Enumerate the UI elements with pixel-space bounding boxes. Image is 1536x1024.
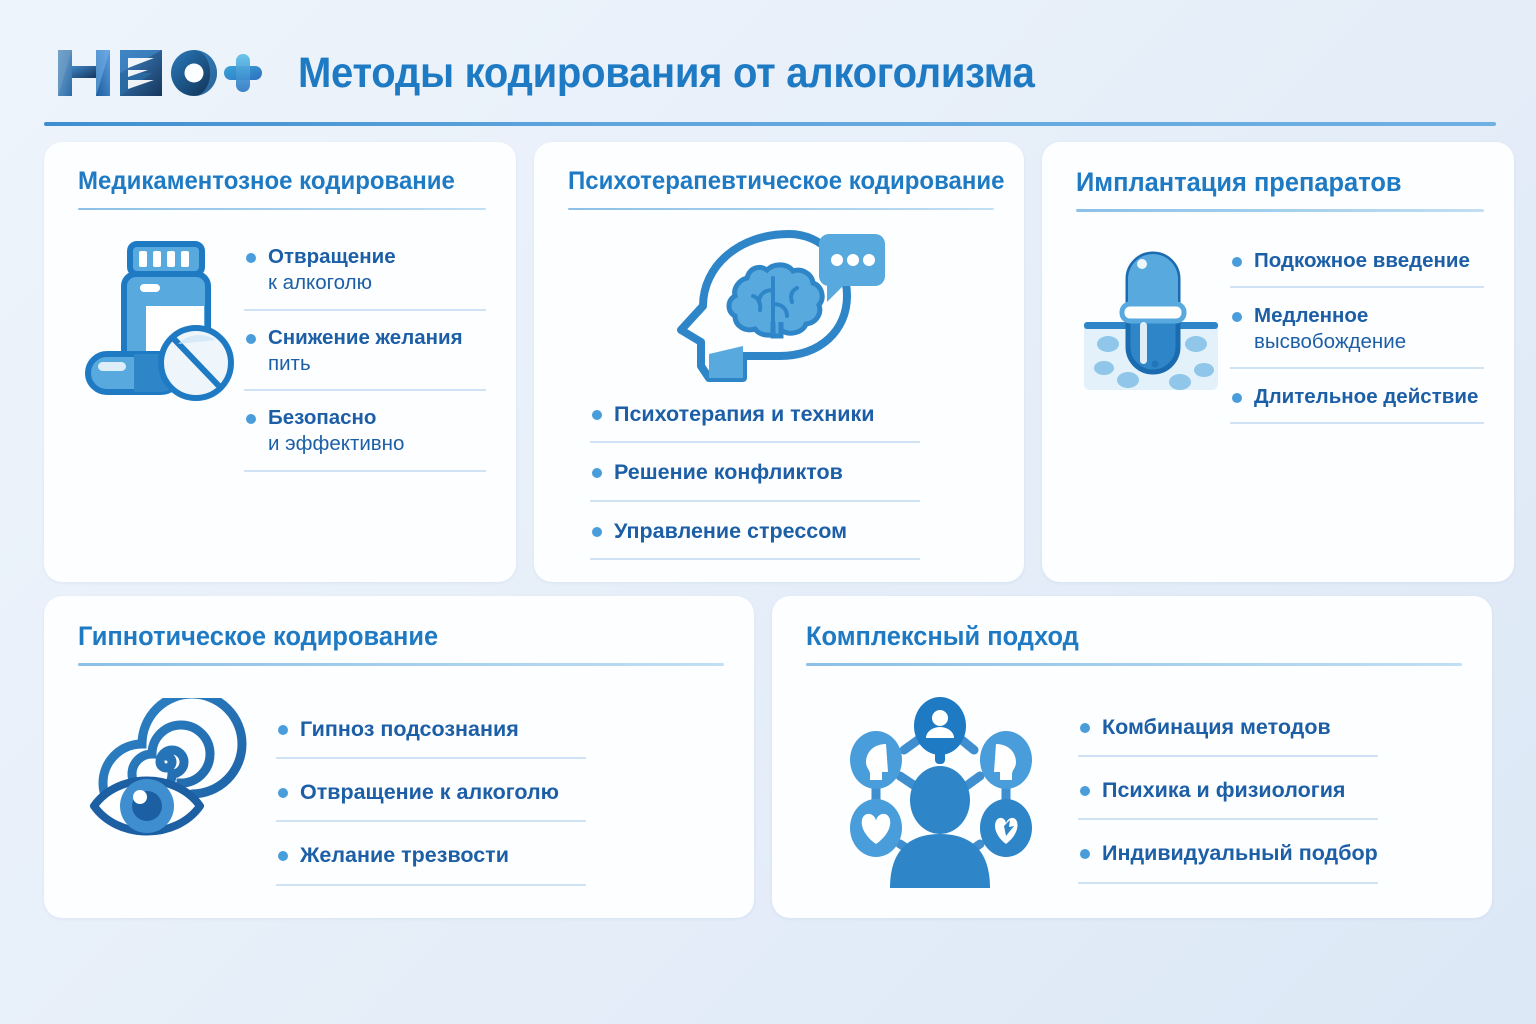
list-item[interactable]: Комбинация методов: [1078, 714, 1378, 757]
bullet-main-text: Управление стрессом: [614, 518, 920, 545]
list-item[interactable]: Снижение желания пить: [244, 325, 486, 392]
list-item[interactable]: Отвращение к алкоголю: [276, 779, 586, 822]
bullet-list: Комбинация методов Психика и физиология …: [1078, 714, 1378, 904]
bullet-sub-text: и эффективно: [268, 431, 486, 458]
header-divider: [44, 122, 1496, 126]
card-title: Медикаментозное кодирование: [78, 168, 470, 196]
bullet-main-text: Комбинация методов: [1102, 714, 1378, 741]
card-gipnoticheskoe[interactable]: Гипнотическое кодирование: [44, 596, 754, 918]
bullet-main-text: Индивидуальный подбор: [1102, 840, 1378, 867]
card-title: Имплантация препаратов: [1076, 168, 1468, 197]
neo-plus-logo: [52, 44, 264, 102]
hypnosis-eye-icon: [88, 698, 248, 848]
bullet-main-text: Безопасно: [268, 405, 486, 431]
list-item[interactable]: Гипноз подсознания: [276, 716, 586, 759]
list-item[interactable]: Психотерапия и техники: [590, 401, 920, 443]
bullet-main-text: Психика и физиология: [1102, 777, 1378, 804]
list-item[interactable]: Длительное действие: [1230, 384, 1484, 424]
bullet-main-text: Подкожное введение: [1254, 248, 1484, 274]
bullet-main-text: Решение конфликтов: [614, 459, 920, 486]
bullet-sub-text: к алкоголю: [268, 270, 486, 297]
page-title: Методы кодирования от алкоголизма: [298, 52, 1035, 95]
card-kompleksnyy[interactable]: Комплексный подход: [772, 596, 1492, 918]
bullet-main-text: Длительное действие: [1254, 384, 1484, 410]
infographic-page: Методы кодирования от алкоголизма Медика…: [0, 0, 1536, 1024]
card-title-divider: [78, 208, 486, 211]
bullet-list: Гипноз подсознания Отвращение к алкоголю…: [276, 716, 586, 906]
list-item[interactable]: Подкожное введение: [1230, 248, 1484, 288]
list-item[interactable]: Отвращение к алкоголю: [244, 244, 486, 311]
card-title-divider: [806, 663, 1462, 666]
people-network-icon: [834, 692, 1044, 897]
head-brain-speech-icon: [661, 226, 891, 391]
card-title-divider: [568, 208, 994, 211]
bullet-sub-text: пить: [268, 351, 486, 378]
pill-bottle-icon: [78, 236, 238, 406]
bullet-list: Отвращение к алкоголю Снижение желания п…: [244, 244, 486, 486]
list-item[interactable]: Психика и физиология: [1078, 777, 1378, 820]
bullet-list: Психотерапия и техники Решение конфликто…: [590, 401, 920, 576]
card-psihoterapevticheskoe[interactable]: Психотерапевтическое кодирование: [534, 142, 1024, 582]
list-item[interactable]: Медленное высвобождение: [1230, 303, 1484, 370]
bullet-list: Подкожное введение Медленное высвобожден…: [1230, 248, 1484, 440]
list-item[interactable]: Управление стрессом: [590, 518, 920, 560]
bullet-sub-text: высвобождение: [1254, 329, 1484, 356]
cards-row-top: Медикаментозное кодирование: [0, 142, 1536, 582]
bullet-main-text: Психотерапия и техники: [614, 401, 920, 428]
implant-capsule-icon: [1076, 244, 1226, 399]
card-title: Гипнотическое кодирование: [78, 622, 698, 651]
bullet-main-text: Желание трезвости: [300, 842, 586, 869]
bullet-main-text: Гипноз подсознания: [300, 716, 586, 743]
list-item[interactable]: Индивидуальный подбор: [1078, 840, 1378, 883]
card-implantaciya[interactable]: Имплантация препаратов: [1042, 142, 1514, 582]
card-title: Комплексный подход: [806, 622, 1436, 651]
card-title-divider: [78, 663, 724, 666]
bullet-main-text: Медленное: [1254, 303, 1484, 329]
card-medikamentoznoe[interactable]: Медикаментозное кодирование: [44, 142, 516, 582]
list-item[interactable]: Безопасно и эффективно: [244, 405, 486, 472]
bullet-main-text: Отвращение: [268, 244, 486, 270]
bullet-main-text: Отвращение к алкоголю: [300, 779, 586, 806]
list-item[interactable]: Решение конфликтов: [590, 459, 920, 501]
card-title: Психотерапевтическое кодирование: [568, 168, 977, 196]
page-header: Методы кодирования от алкоголизма: [0, 0, 1536, 112]
cards-row-bottom: Гипнотическое кодирование: [0, 596, 1536, 918]
bullet-main-text: Снижение желания: [268, 325, 486, 351]
card-title-divider: [1076, 209, 1484, 212]
list-item[interactable]: Желание трезвости: [276, 842, 586, 885]
